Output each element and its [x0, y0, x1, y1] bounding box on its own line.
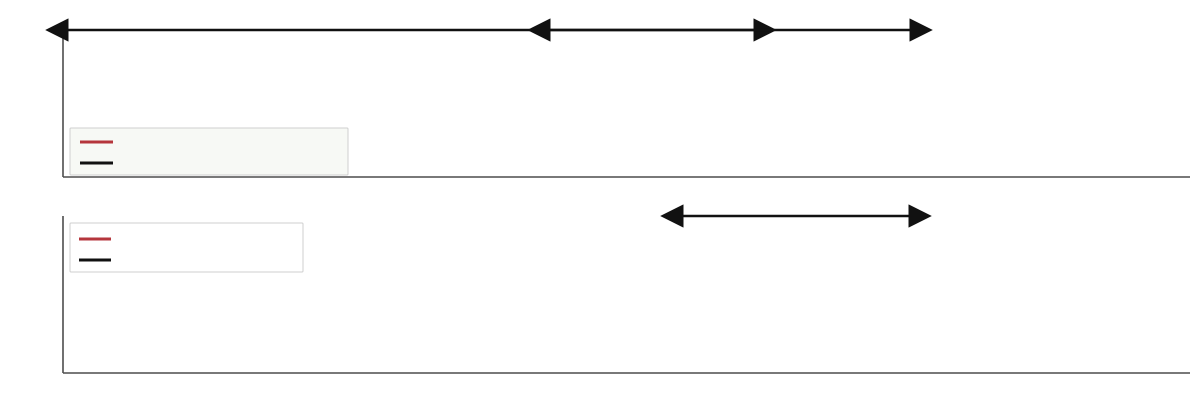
two-panel-timeseries-figure [0, 0, 1200, 417]
top-panel-legend [70, 128, 348, 175]
figure-container [0, 0, 1200, 417]
top-panel [63, 29, 1190, 177]
bottom-panel [63, 216, 1190, 373]
bottom-panel-legend [70, 223, 303, 272]
